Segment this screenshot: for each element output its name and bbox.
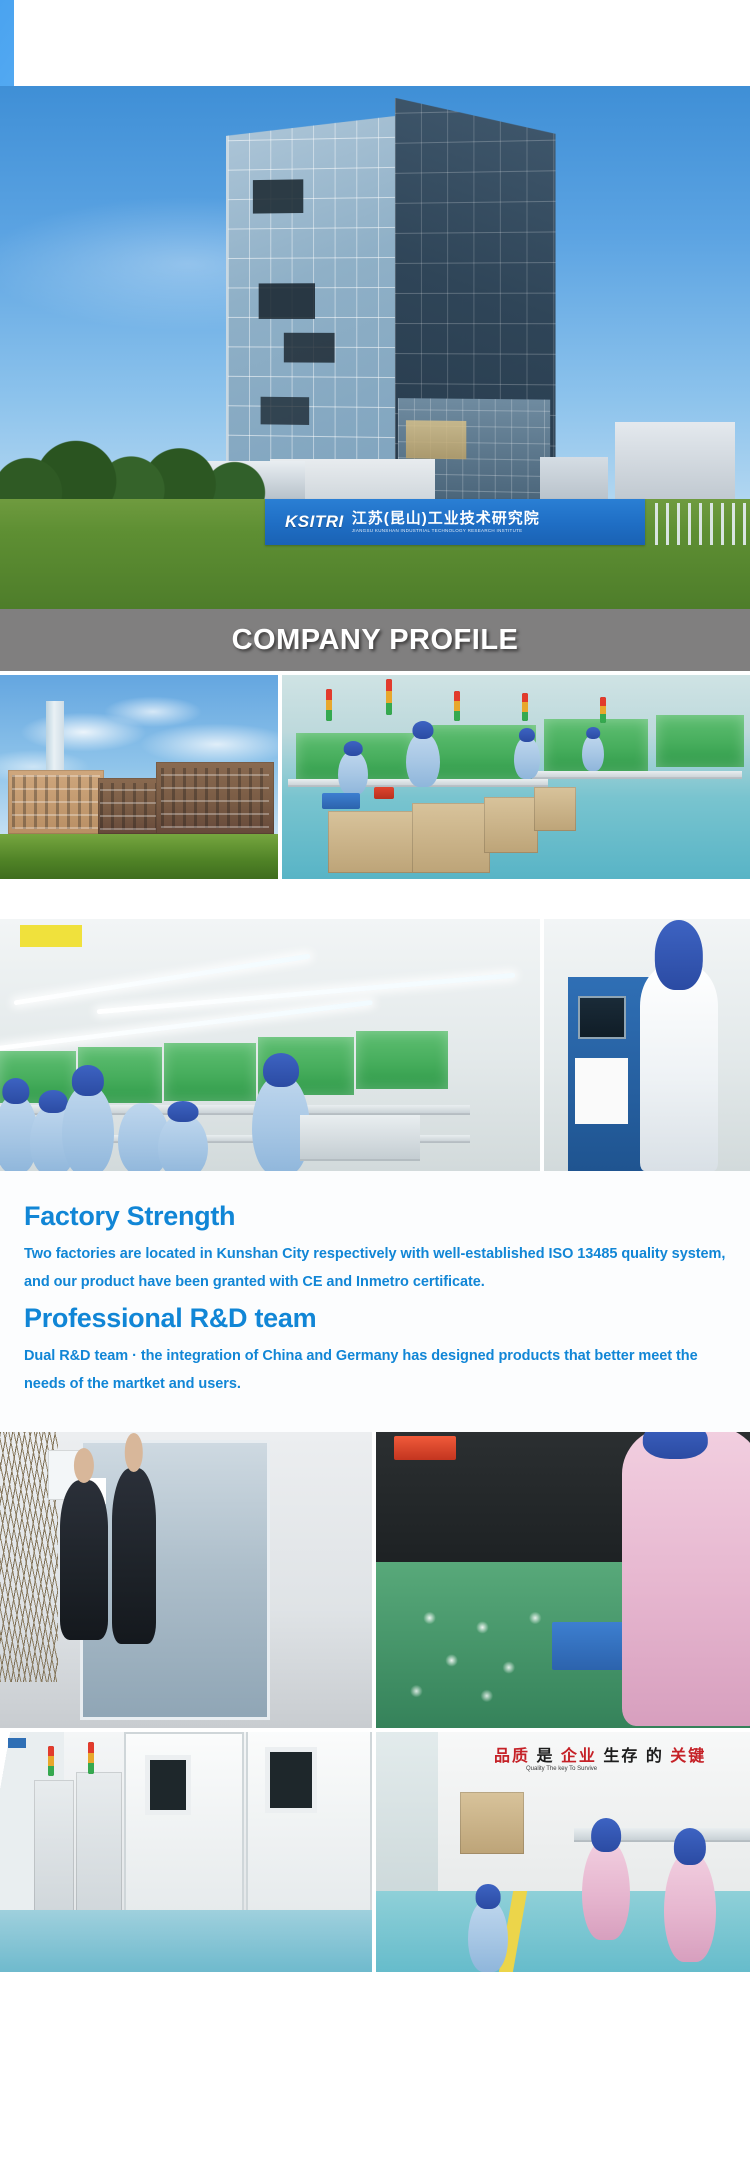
assembly-stack-light-2 xyxy=(386,679,392,715)
ksitri-sign-chinese: 江苏(昆山)工业技术研究院 JIANGSU KUNSHAN INDUSTRIAL… xyxy=(352,511,540,533)
gallery-row-4: 品质 是 企业 生存 的 关键 Quality The key To Survi… xyxy=(0,1732,750,1972)
ksitri-sign: KSITRI 江苏(昆山)工业技术研究院 JIANGSU KUNSHAN IND… xyxy=(265,499,645,545)
cleanroom-glass-partition xyxy=(376,1732,438,1912)
ksitri-sign-subtitle: JIANGSU KUNSHAN INDUSTRIAL TECHNOLOGY RE… xyxy=(352,529,540,534)
hero-fence xyxy=(655,503,750,545)
tower-recess-3 xyxy=(284,333,335,363)
campus-building-2-windows xyxy=(100,783,157,830)
chamber-technician xyxy=(640,965,718,1171)
content-text-block: Factory Strength Two factories are locat… xyxy=(0,1171,750,1432)
hero-building-photo: KSITRI 江苏(昆山)工业技术研究院 JIANGSU KUNSHAN IND… xyxy=(0,86,750,609)
campus-building-3 xyxy=(156,762,274,834)
chamber-control-panel-1 xyxy=(34,1780,74,1930)
photo-environmental-chamber-room xyxy=(0,1732,372,1972)
worker-cap xyxy=(674,1828,706,1865)
top-corner-decoration xyxy=(0,0,750,86)
assembly-worker-4 xyxy=(582,735,604,771)
production-yellow-sign xyxy=(20,925,82,947)
office-glass-door xyxy=(80,1440,270,1720)
cleanroom-slogan-english: Quality The key To Survive xyxy=(526,1766,597,1772)
campus-building-2 xyxy=(98,778,160,834)
photo-assembly-line xyxy=(282,675,750,879)
worker-cap xyxy=(586,727,600,739)
inspection-blue-tray xyxy=(552,1622,630,1670)
cleanroom-worker-1 xyxy=(468,1900,508,1972)
chamber-stack-light-2 xyxy=(88,1742,94,1774)
ksitri-sign-latin: KSITRI xyxy=(285,512,344,532)
worker-cap xyxy=(39,1090,68,1114)
top-corner-white-mask xyxy=(14,0,750,86)
assembly-red-bin xyxy=(374,787,394,799)
heading-rd-team: Professional R&D team xyxy=(24,1303,726,1334)
assembly-carton-1 xyxy=(328,811,414,873)
assembly-worker-2 xyxy=(406,733,440,787)
worker-cap xyxy=(168,1101,199,1122)
tower-recess-4 xyxy=(261,397,310,425)
photo-parts-inspection xyxy=(376,1432,750,1728)
worker-cap xyxy=(476,1884,501,1908)
assembly-stack-light-1 xyxy=(326,689,332,721)
worker-cap xyxy=(655,920,703,990)
photo-production-line xyxy=(0,919,540,1171)
chamber-window-left xyxy=(150,1760,186,1810)
assembly-green-panel-4 xyxy=(656,715,744,767)
production-green-panel-3 xyxy=(164,1043,256,1101)
assembly-stack-light-5 xyxy=(600,697,606,723)
worker-cap xyxy=(519,728,535,742)
worker-cap xyxy=(412,721,433,739)
chamber-window-right xyxy=(270,1752,312,1808)
photo-cleanroom-slogan: 品质 是 企业 生存 的 关键 Quality The key To Survi… xyxy=(376,1732,750,1972)
assembly-blue-bin xyxy=(322,793,360,809)
campus-lawn xyxy=(0,834,278,879)
production-cabinet xyxy=(300,1115,420,1161)
assembly-worker-3 xyxy=(514,737,540,779)
chamber-stack-light-1 xyxy=(48,1746,54,1776)
chamber-room-floor xyxy=(0,1910,372,1972)
company-profile-band: COMPANY PROFILE xyxy=(0,609,750,671)
gallery-row-2 xyxy=(0,919,750,1171)
photo-handshake-office: 6 xyxy=(0,1432,372,1728)
cleanroom-worker-2 xyxy=(582,1840,630,1940)
assembly-carton-4 xyxy=(534,787,576,831)
chamber-control-panel-2 xyxy=(76,1772,122,1932)
campus-building-3-windows xyxy=(161,768,270,829)
heading-factory-strength: Factory Strength xyxy=(24,1201,726,1232)
chamber-control-screen xyxy=(578,996,626,1039)
podium-lit-windows xyxy=(406,420,466,459)
tower-recess-1 xyxy=(253,179,303,213)
assembly-worker-1 xyxy=(338,751,368,795)
gallery-row-3: 6 xyxy=(0,1432,750,1728)
worker-cap xyxy=(643,1432,707,1459)
worker-cap xyxy=(72,1065,104,1096)
production-worker-5 xyxy=(158,1115,208,1171)
paragraph-rd-team: Dual R&D team · the integration of China… xyxy=(24,1342,726,1399)
production-worker-3 xyxy=(62,1085,114,1171)
worker-cap xyxy=(2,1078,29,1105)
office-person-right xyxy=(112,1468,156,1644)
spacer-2 xyxy=(0,879,750,919)
chamber-blue-sign xyxy=(8,1738,26,1748)
cleanroom-worker-3 xyxy=(664,1852,716,1962)
cleanroom-carton xyxy=(460,1792,524,1854)
assembly-stack-light-4 xyxy=(522,693,528,721)
campus-building-1 xyxy=(8,770,104,834)
worker-cap xyxy=(263,1053,299,1087)
tower-recess-2 xyxy=(259,283,315,319)
worker-cap xyxy=(344,741,363,756)
assembly-stack-light-3 xyxy=(454,691,460,721)
photo-factory-campus xyxy=(0,675,278,879)
inspection-worker xyxy=(622,1432,750,1726)
gallery-row-1 xyxy=(0,675,750,879)
chamber-label xyxy=(575,1058,628,1124)
company-profile-title: COMPANY PROFILE xyxy=(232,624,519,657)
assembly-bench-2 xyxy=(532,771,742,779)
inspection-red-crate xyxy=(394,1436,456,1460)
assembly-carton-2 xyxy=(412,803,490,873)
production-green-panel-5 xyxy=(356,1031,448,1089)
campus-building-1-windows xyxy=(12,775,100,829)
paragraph-factory-strength: Two factories are located in Kunshan Cit… xyxy=(24,1240,726,1297)
photo-test-chamber xyxy=(544,919,750,1171)
worker-cap xyxy=(591,1818,621,1852)
assembly-carton-3 xyxy=(484,797,538,853)
office-person-left xyxy=(60,1480,108,1640)
cleanroom-slogan-chinese: 品质 是 企业 生存 的 关键 xyxy=(494,1742,706,1766)
